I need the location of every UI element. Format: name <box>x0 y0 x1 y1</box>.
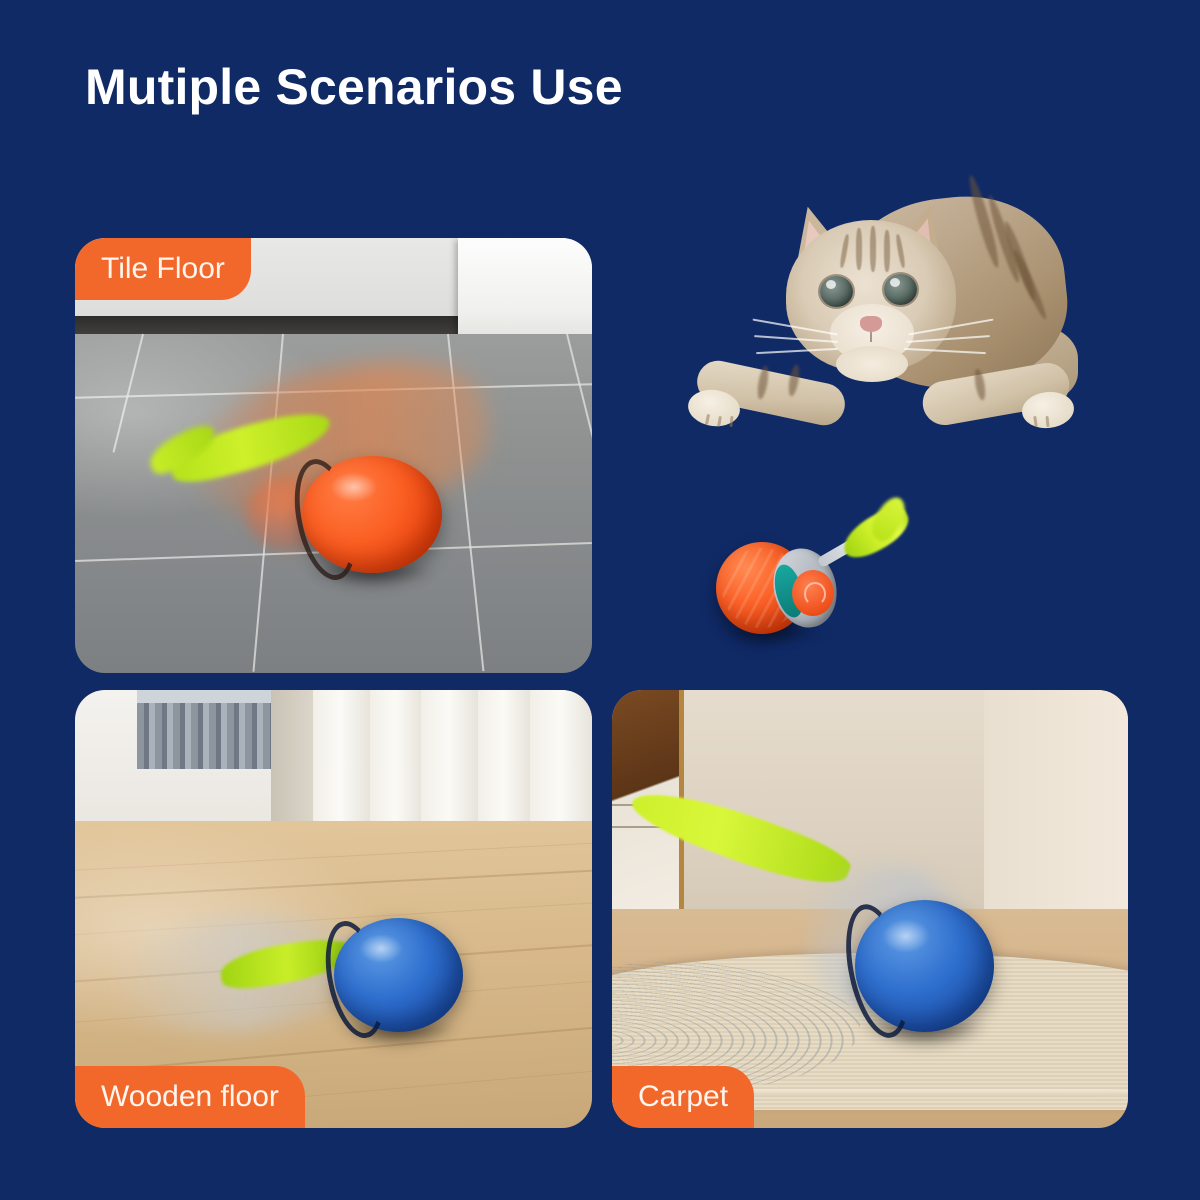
page-title: Mutiple Scenarios Use <box>85 58 623 116</box>
hero-ball-toy <box>716 520 906 630</box>
badge-label: Wooden floor <box>101 1080 279 1114</box>
ball-highlight <box>882 919 929 953</box>
kitten-claw <box>729 416 733 427</box>
kitten-forehead-stripe <box>856 228 862 270</box>
panel-tile-floor: Tile Floor <box>75 238 592 673</box>
kitten-forehead-stripe <box>884 230 890 272</box>
kitten-chin <box>836 346 908 382</box>
panel-wooden-floor: Wooden floor <box>75 690 592 1128</box>
curtain <box>370 690 427 830</box>
kitten-eye-left <box>820 276 853 307</box>
curtain <box>530 690 592 830</box>
radiator-top <box>137 690 282 703</box>
orange-ball-toy <box>302 456 442 573</box>
kitten-eye-right <box>884 274 917 305</box>
badge-carpet: Carpet <box>612 1066 754 1128</box>
badge-label: Tile Floor <box>101 252 225 286</box>
curtain <box>313 690 375 830</box>
badge-wooden-floor: Wooden floor <box>75 1066 305 1128</box>
kitten-mouth <box>870 332 872 342</box>
kitten-eye-glint-right <box>890 278 900 287</box>
kitten-nose <box>860 316 882 332</box>
carpet-wall-right <box>984 690 1128 918</box>
badge-tile-floor: Tile Floor <box>75 238 251 300</box>
badge-label: Carpet <box>638 1080 728 1114</box>
carpet-scene <box>612 690 1128 1128</box>
kitten-image <box>686 176 1086 476</box>
toy-button-glyph-icon <box>804 582 826 606</box>
blue-ball-toy <box>334 918 463 1032</box>
wooden-floor-scene <box>75 690 592 1128</box>
panel-carpet: Carpet <box>612 690 1128 1128</box>
tile-cabinet <box>458 238 592 342</box>
ball-highlight <box>330 472 377 503</box>
blue-ball-toy <box>855 900 994 1031</box>
curtain <box>271 690 318 830</box>
kitten-forehead-stripe <box>870 226 876 272</box>
curtain <box>421 690 483 830</box>
infographic-stage: Mutiple Scenarios Use <box>0 0 1200 1200</box>
curtain <box>478 690 535 830</box>
tile-floor-scene <box>75 238 592 673</box>
kitten-eye-glint-left <box>826 280 836 289</box>
